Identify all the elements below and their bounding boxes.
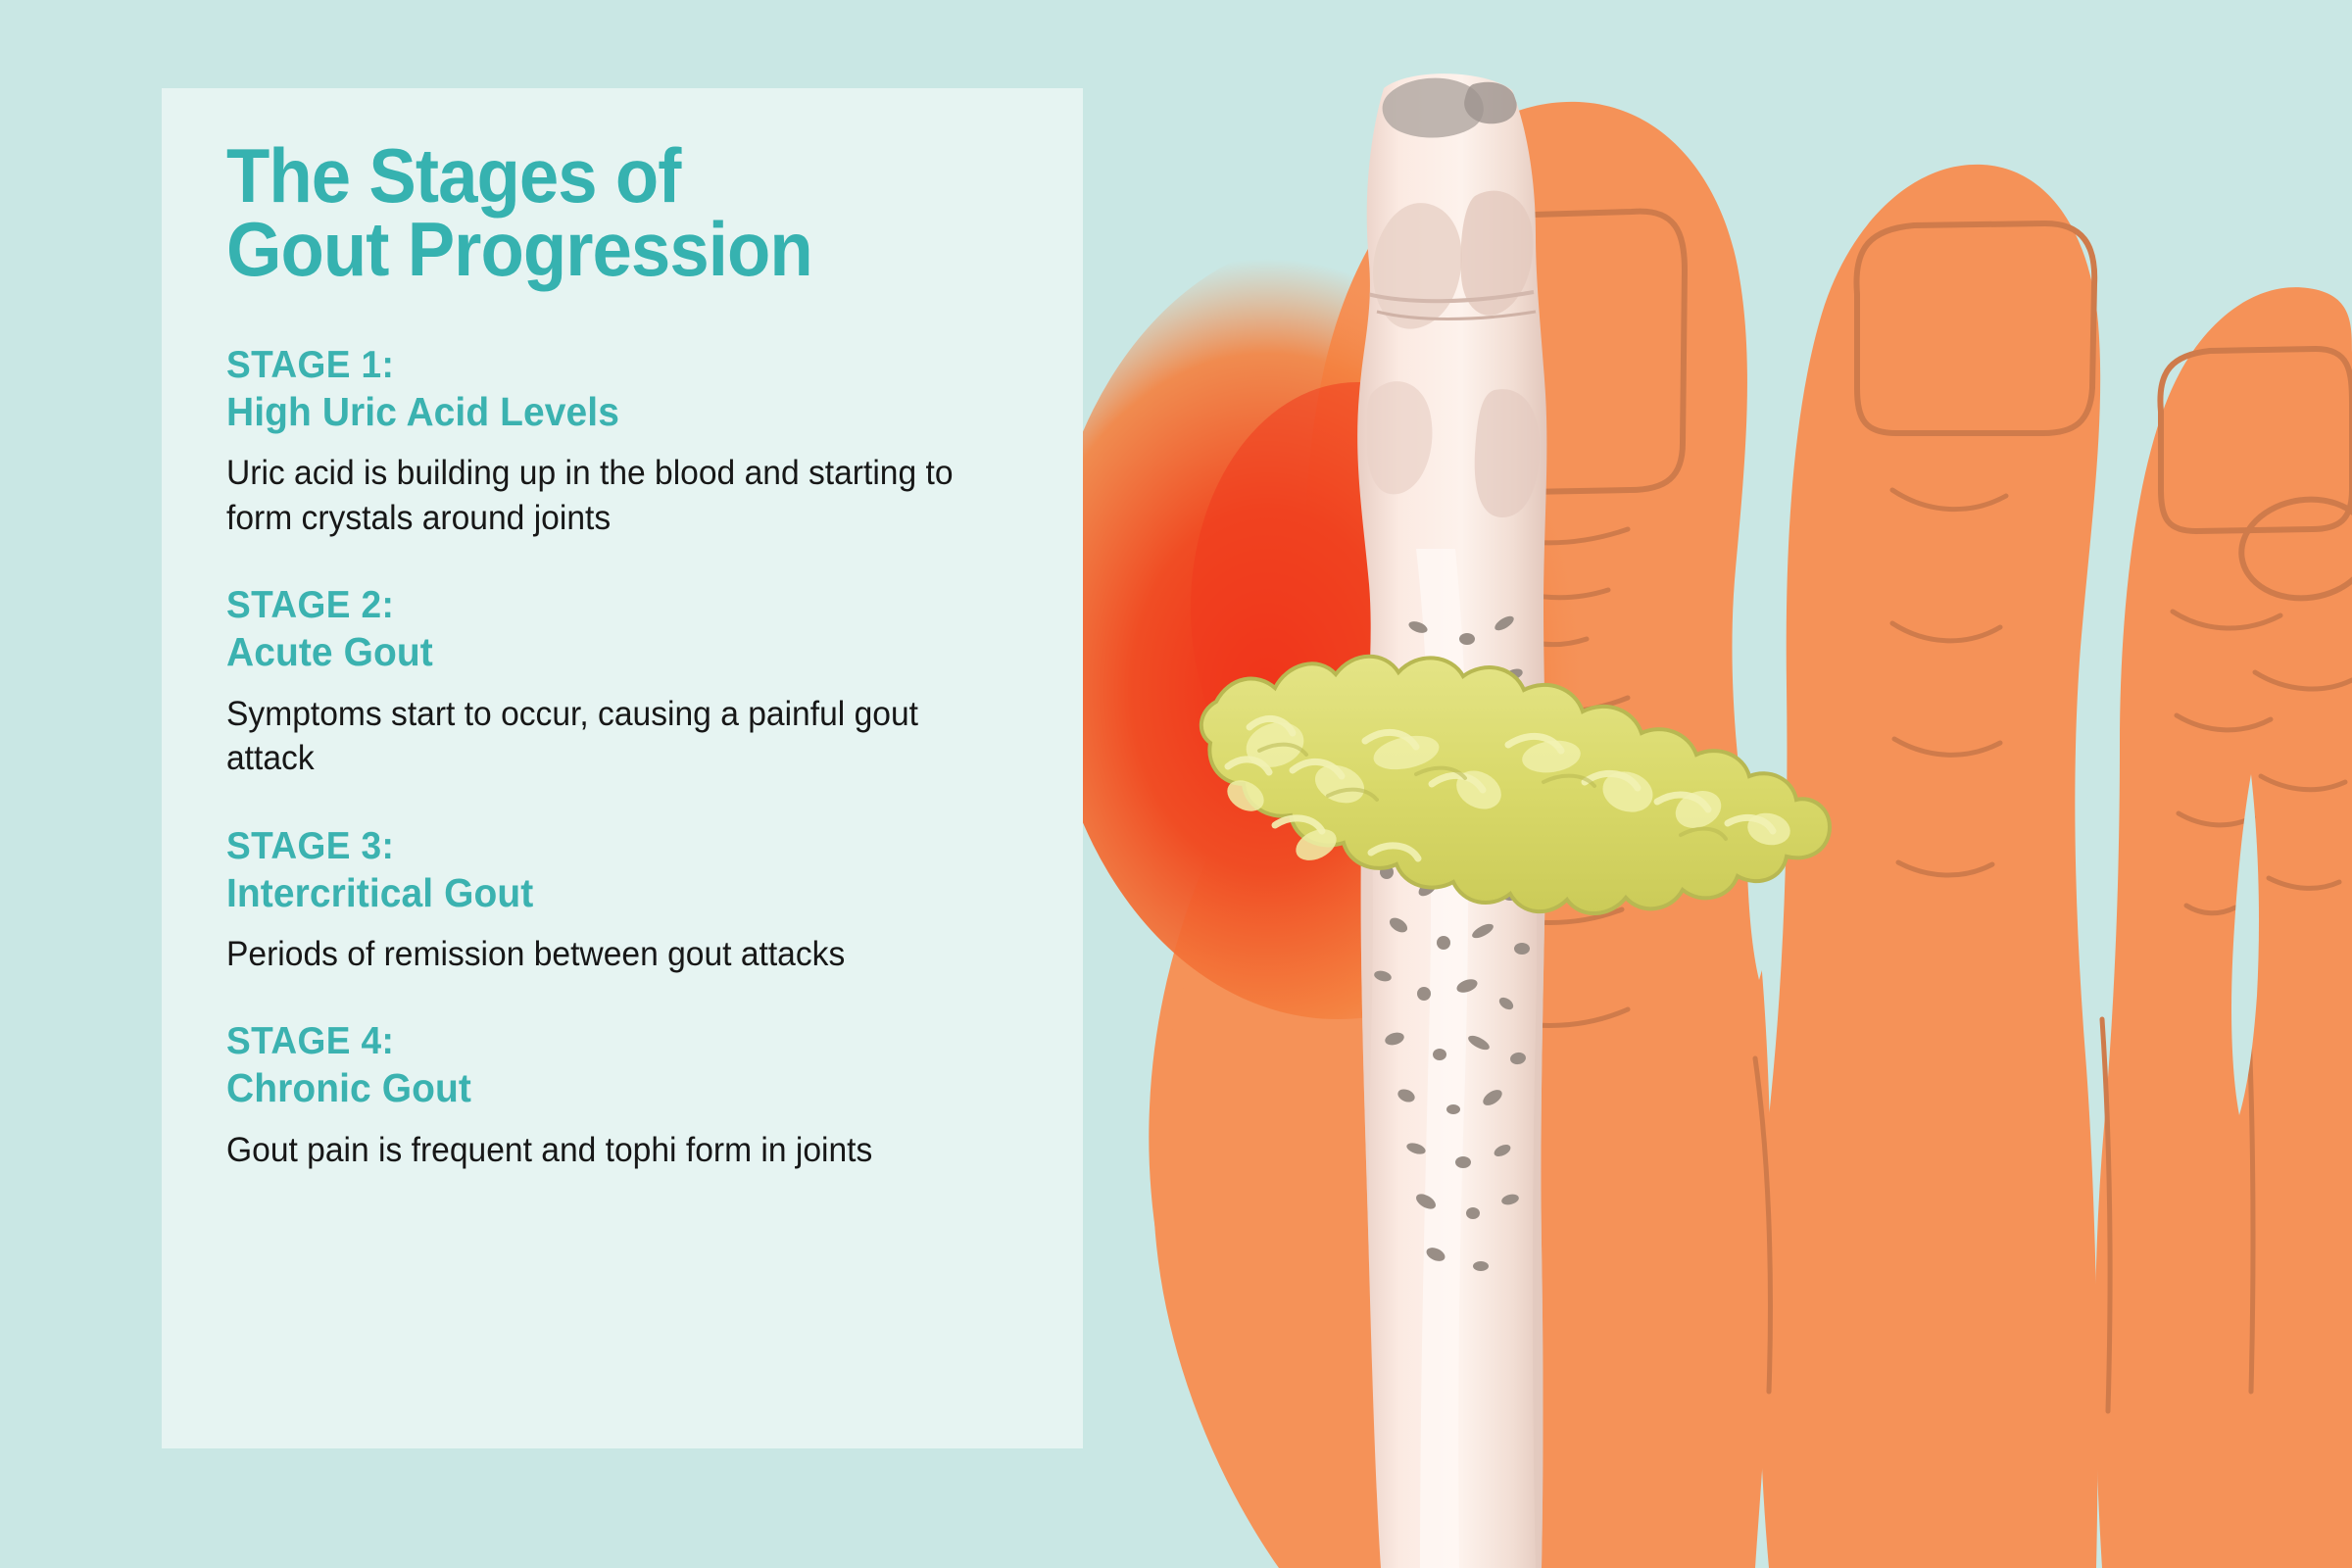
stage-4-name: Chronic Gout — [226, 1064, 1003, 1111]
stage-4-description: Gout pain is frequent and tophi form in … — [226, 1128, 998, 1173]
toe-gap-notch — [1746, 549, 1786, 980]
toe-gap-notch — [2082, 647, 2116, 1037]
stage-3-description: Periods of remission between gout attack… — [226, 932, 998, 977]
stage-block-4: STAGE 4: Chronic Gout Gout pain is frequ… — [226, 1019, 1044, 1172]
stage-4-kicker: STAGE 4: — [226, 1019, 1003, 1064]
card-content: The Stages of Gout Progression STAGE 1: … — [226, 139, 1044, 1172]
stage-1-description: Uric acid is building up in the blood an… — [226, 451, 998, 540]
stage-block-2: STAGE 2: Acute Gout Symptoms start to oc… — [226, 583, 1044, 780]
second-toe-shape — [1759, 165, 2100, 1568]
stage-1-name: High Uric Acid Levels — [226, 388, 1003, 435]
stage-1-kicker: STAGE 1: — [226, 343, 1003, 388]
stage-block-1: STAGE 1: High Uric Acid Levels Uric acid… — [226, 343, 1044, 540]
foot-diagram-svg — [1083, 0, 2352, 1568]
page-title: The Stages of Gout Progression — [226, 139, 987, 286]
foot-illustration — [1083, 0, 2352, 1568]
stage-2-description: Symptoms start to occur, causing a painf… — [226, 692, 998, 781]
stage-2-name: Acute Gout — [226, 628, 1003, 675]
stage-2-kicker: STAGE 2: — [226, 583, 1003, 628]
infographic-canvas: The Stages of Gout Progression STAGE 1: … — [0, 0, 2352, 1568]
stages-card: The Stages of Gout Progression STAGE 1: … — [162, 88, 1083, 1448]
stage-3-name: Intercritical Gout — [226, 869, 1003, 916]
stage-block-3: STAGE 3: Intercritical Gout Periods of r… — [226, 824, 1044, 977]
stage-3-kicker: STAGE 3: — [226, 824, 1003, 869]
